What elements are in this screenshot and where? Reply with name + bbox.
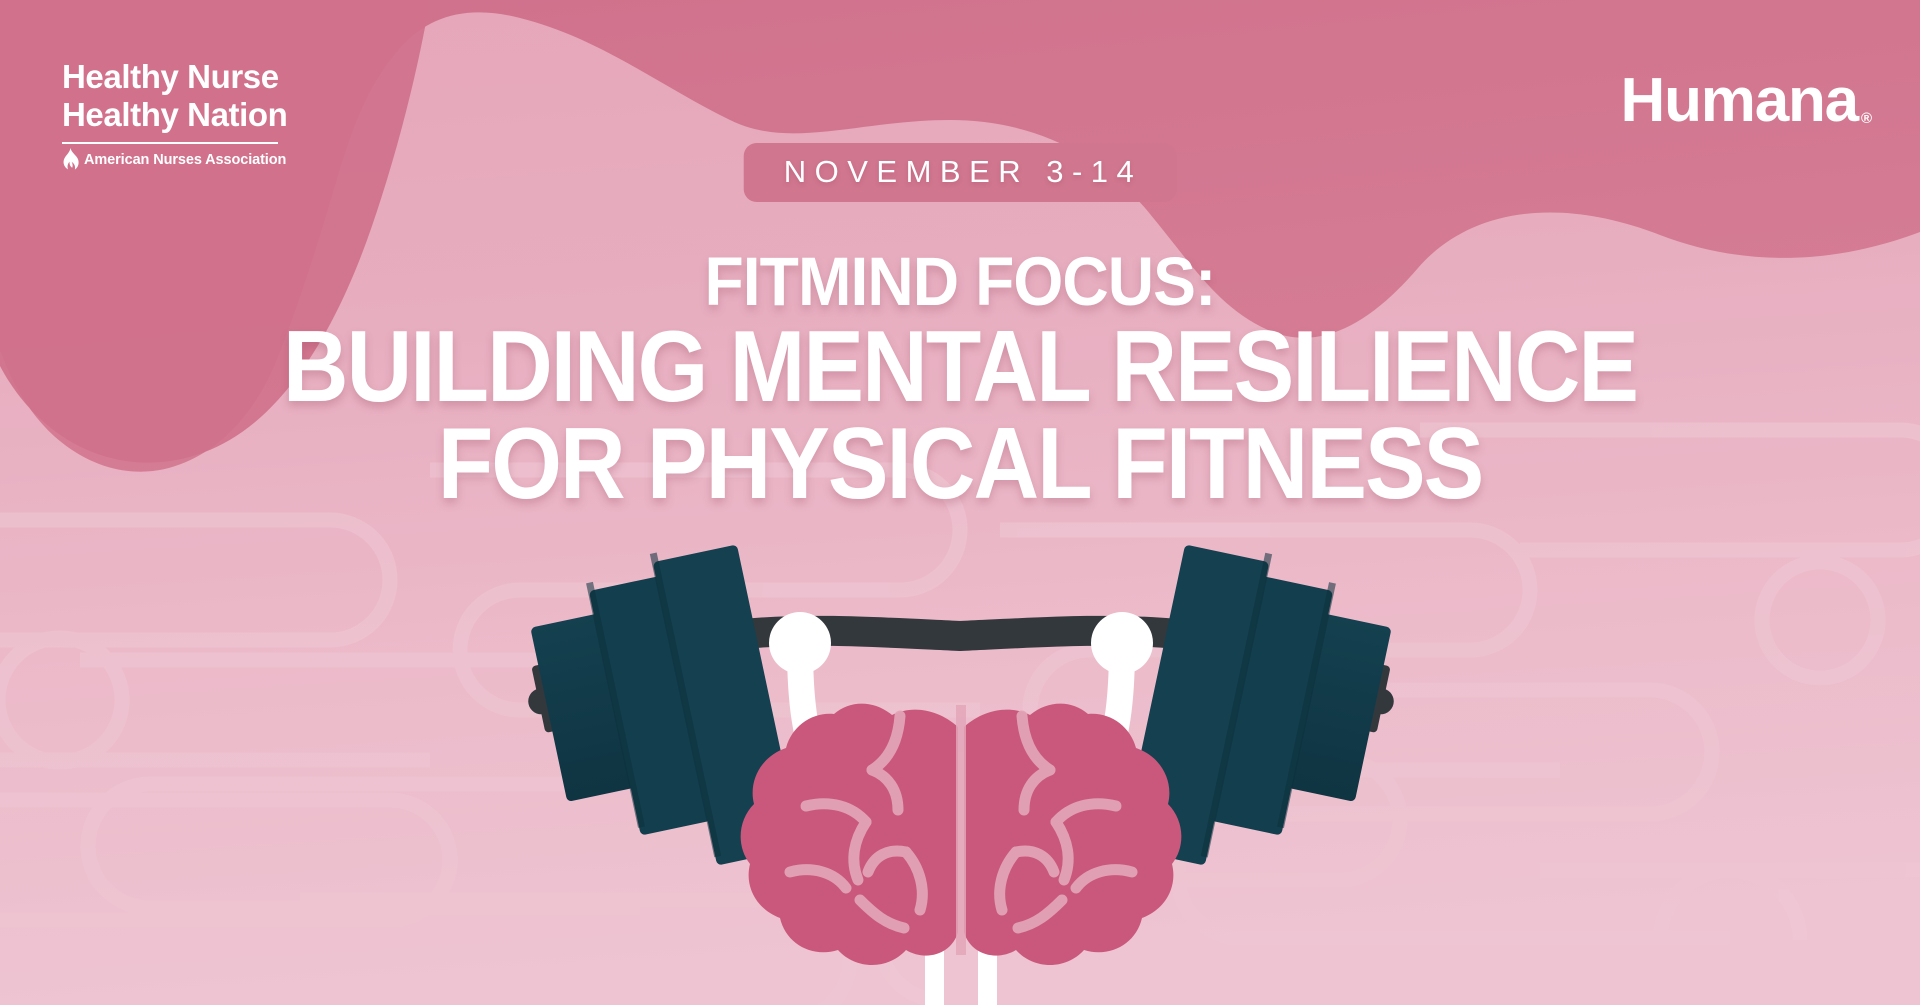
date-badge: NOVEMBER 3-14 [744,143,1177,202]
headline-line-1: BUILDING MENTAL RESILIENCE [96,321,1824,415]
humana-logo: Humana ® [1621,70,1872,132]
ana-flame-icon [62,148,79,173]
logo-line-2: Healthy Nation [62,96,362,134]
ana-label: American Nurses Association [84,152,286,168]
promotional-banner: Healthy Nurse Healthy Nation American Nu… [0,0,1920,1005]
date-badge-label: NOVEMBER 3-14 [784,156,1143,187]
humana-wordmark: Humana [1621,70,1858,132]
healthy-nurse-healthy-nation-logo: Healthy Nurse Healthy Nation American Nu… [62,58,362,173]
logo-divider [62,142,278,144]
ana-lockup: American Nurses Association [62,148,362,173]
headline-eyebrow: FITMIND FOCUS: [67,250,1853,314]
headline-line-2: FOR PHYSICAL FITNESS [96,418,1824,512]
logo-line-1: Healthy Nurse [62,58,362,96]
registered-trademark-icon: ® [1861,111,1872,126]
headline-block: FITMIND FOCUS: BUILDING MENTAL RESILIENC… [0,250,1920,512]
